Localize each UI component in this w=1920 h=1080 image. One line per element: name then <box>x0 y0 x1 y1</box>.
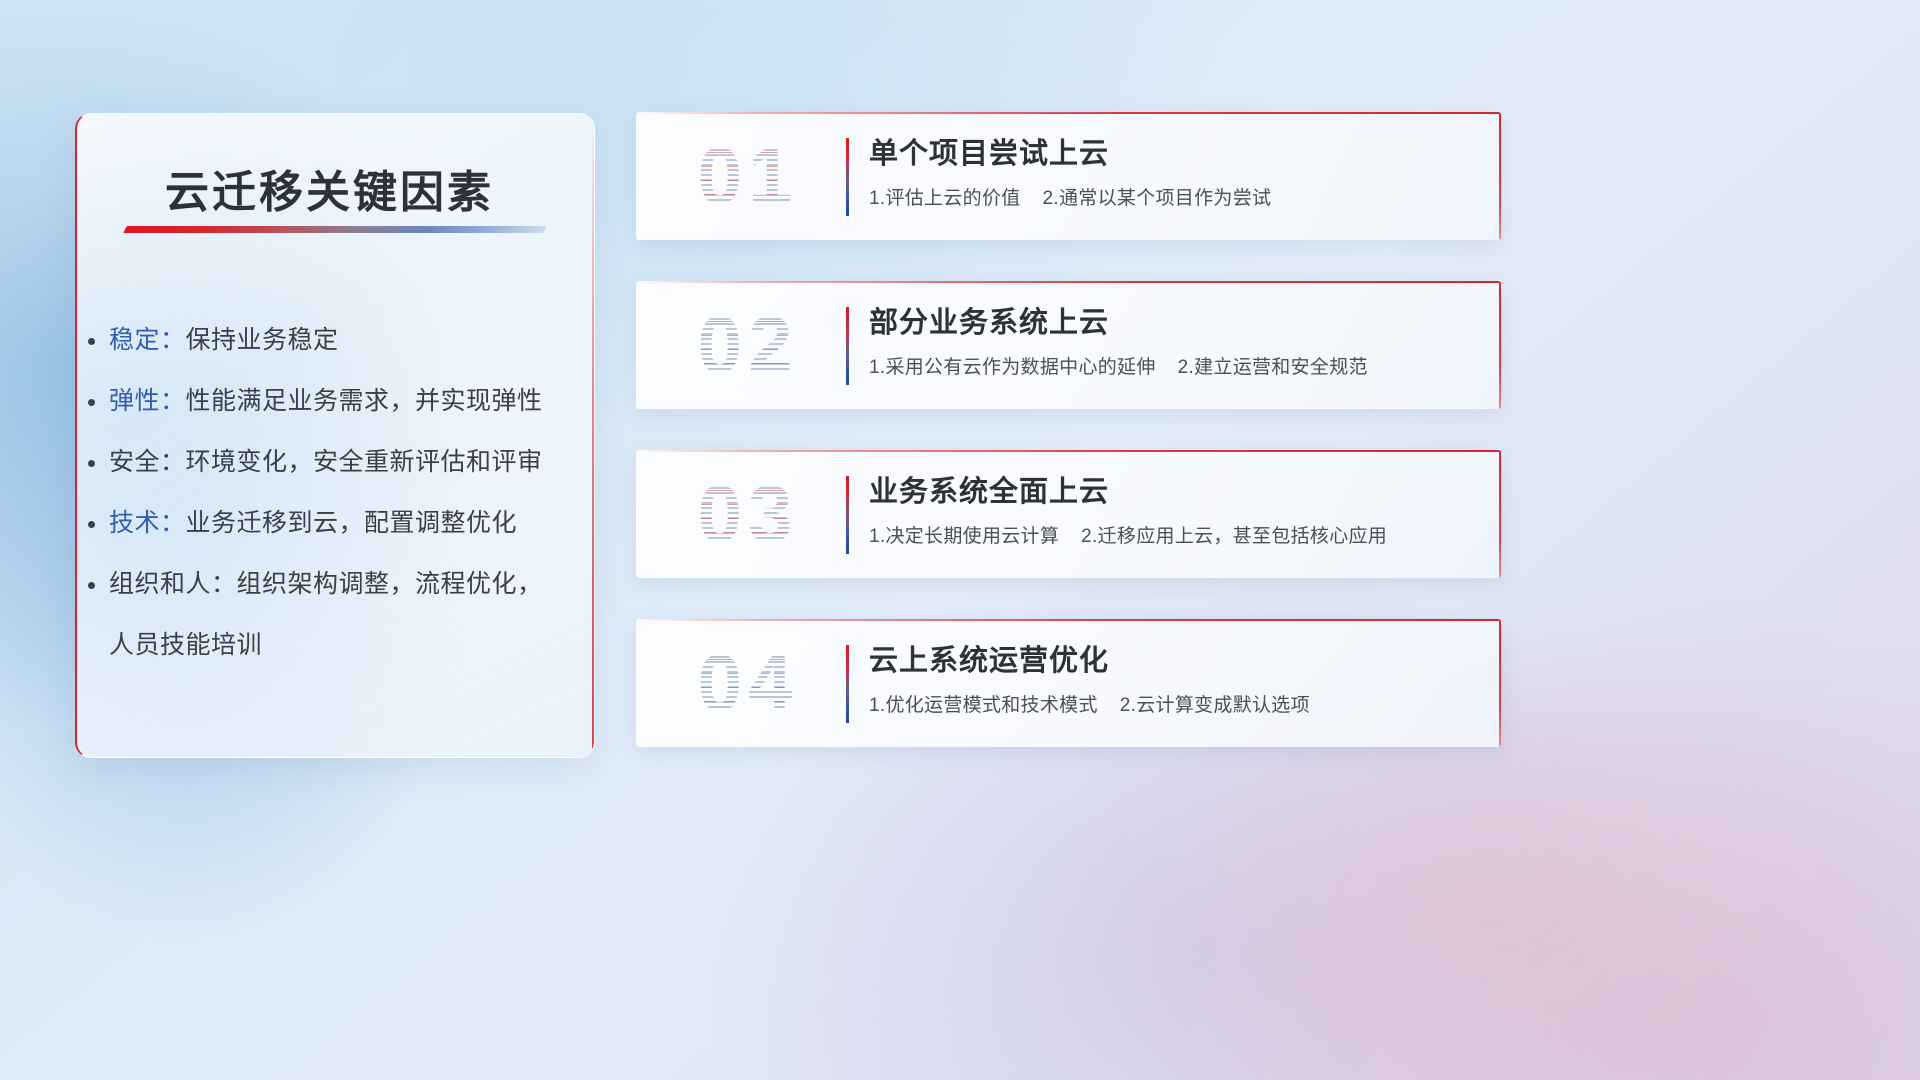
step-number: 03 <box>662 462 834 566</box>
factor-item: 技术：业务迁移到云，配置调整优化 <box>109 493 568 554</box>
step-point-2: 2.迁移应用上云，甚至包括核心应用 <box>1081 526 1387 547</box>
step-point-2: 2.通常以某个项目作为尝试 <box>1043 188 1272 209</box>
factor-text: 环境变化，安全重新评估和评审 <box>186 448 543 476</box>
step-point-2: 2.云计算变成默认选项 <box>1120 695 1310 716</box>
title-underline-gradient <box>123 226 547 233</box>
step-point-1: 1.采用公有云作为数据中心的延伸 <box>869 357 1156 378</box>
step-card[interactable]: 0101单个项目尝试上云1.评估上云的价值2.通常以某个项目作为尝试 <box>636 112 1501 240</box>
step-title: 单个项目尝试上云 <box>869 134 1481 174</box>
step-card[interactable]: 0303业务系统全面上云1.决定长期使用云计算2.迁移应用上云，甚至包括核心应用 <box>636 450 1501 578</box>
step-description: 1.采用公有云作为数据中心的延伸2.建立运营和安全规范 <box>869 355 1481 381</box>
slide-canvas: 云迁移关键因素 稳定：保持业务稳定弹性：性能满足业务需求，并实现弹性安全：环境变… <box>0 0 1920 1080</box>
factor-label: 弹性： <box>109 387 186 415</box>
page-title: 云迁移关键因素 <box>165 156 494 220</box>
step-title: 部分业务系统上云 <box>869 303 1481 343</box>
step-title: 业务系统全面上云 <box>869 472 1481 512</box>
step-point-1: 1.评估上云的价值 <box>869 188 1021 209</box>
factor-label: 安全： <box>109 448 186 476</box>
step-title: 云上系统运营优化 <box>869 641 1481 681</box>
step-divider-bar <box>846 645 849 723</box>
factor-item: 弹性：性能满足业务需求，并实现弹性 <box>109 371 568 432</box>
factor-item: 组织和人：组织架构调整，流程优化，人员技能培训 <box>109 554 568 676</box>
step-description: 1.优化运营模式和技术模式2.云计算变成默认选项 <box>869 693 1481 719</box>
step-body: 云上系统运营优化1.优化运营模式和技术模式2.云计算变成默认选项 <box>869 641 1481 719</box>
step-description: 1.决定长期使用云计算2.迁移应用上云，甚至包括核心应用 <box>869 524 1481 550</box>
factor-item: 稳定：保持业务稳定 <box>109 310 568 371</box>
factor-item: 安全：环境变化，安全重新评估和评审 <box>109 432 568 493</box>
step-number: 01 <box>662 124 834 228</box>
step-card[interactable]: 0202部分业务系统上云1.采用公有云作为数据中心的延伸2.建立运营和安全规范 <box>636 281 1501 409</box>
step-point-1: 1.优化运营模式和技术模式 <box>869 695 1098 716</box>
step-body: 单个项目尝试上云1.评估上云的价值2.通常以某个项目作为尝试 <box>869 134 1481 212</box>
step-number: 04 <box>662 631 834 735</box>
step-point-2: 2.建立运营和安全规范 <box>1178 357 1368 378</box>
factor-text: 业务迁移到云，配置调整优化 <box>186 509 518 537</box>
step-body: 业务系统全面上云1.决定长期使用云计算2.迁移应用上云，甚至包括核心应用 <box>869 472 1481 550</box>
factor-text: 性能满足业务需求，并实现弹性 <box>186 387 543 415</box>
migration-steps-list: 0101单个项目尝试上云1.评估上云的价值2.通常以某个项目作为尝试0202部分… <box>636 112 1501 788</box>
step-divider-bar <box>846 476 849 554</box>
factor-label: 稳定： <box>109 326 186 354</box>
key-factors-panel: 云迁移关键因素 稳定：保持业务稳定弹性：性能满足业务需求，并实现弹性安全：环境变… <box>75 113 595 758</box>
step-card[interactable]: 0404云上系统运营优化1.优化运营模式和技术模式2.云计算变成默认选项 <box>636 619 1501 747</box>
step-point-1: 1.决定长期使用云计算 <box>869 526 1059 547</box>
factor-text: 保持业务稳定 <box>186 326 339 354</box>
factor-label: 技术： <box>109 509 186 537</box>
factor-list: 稳定：保持业务稳定弹性：性能满足业务需求，并实现弹性安全：环境变化，安全重新评估… <box>109 310 568 676</box>
factor-label: 组织和人： <box>109 570 237 598</box>
step-divider-bar <box>846 307 849 385</box>
step-body: 部分业务系统上云1.采用公有云作为数据中心的延伸2.建立运营和安全规范 <box>869 303 1481 381</box>
step-divider-bar <box>846 138 849 216</box>
step-number: 02 <box>662 293 834 397</box>
step-description: 1.评估上云的价值2.通常以某个项目作为尝试 <box>869 186 1481 212</box>
